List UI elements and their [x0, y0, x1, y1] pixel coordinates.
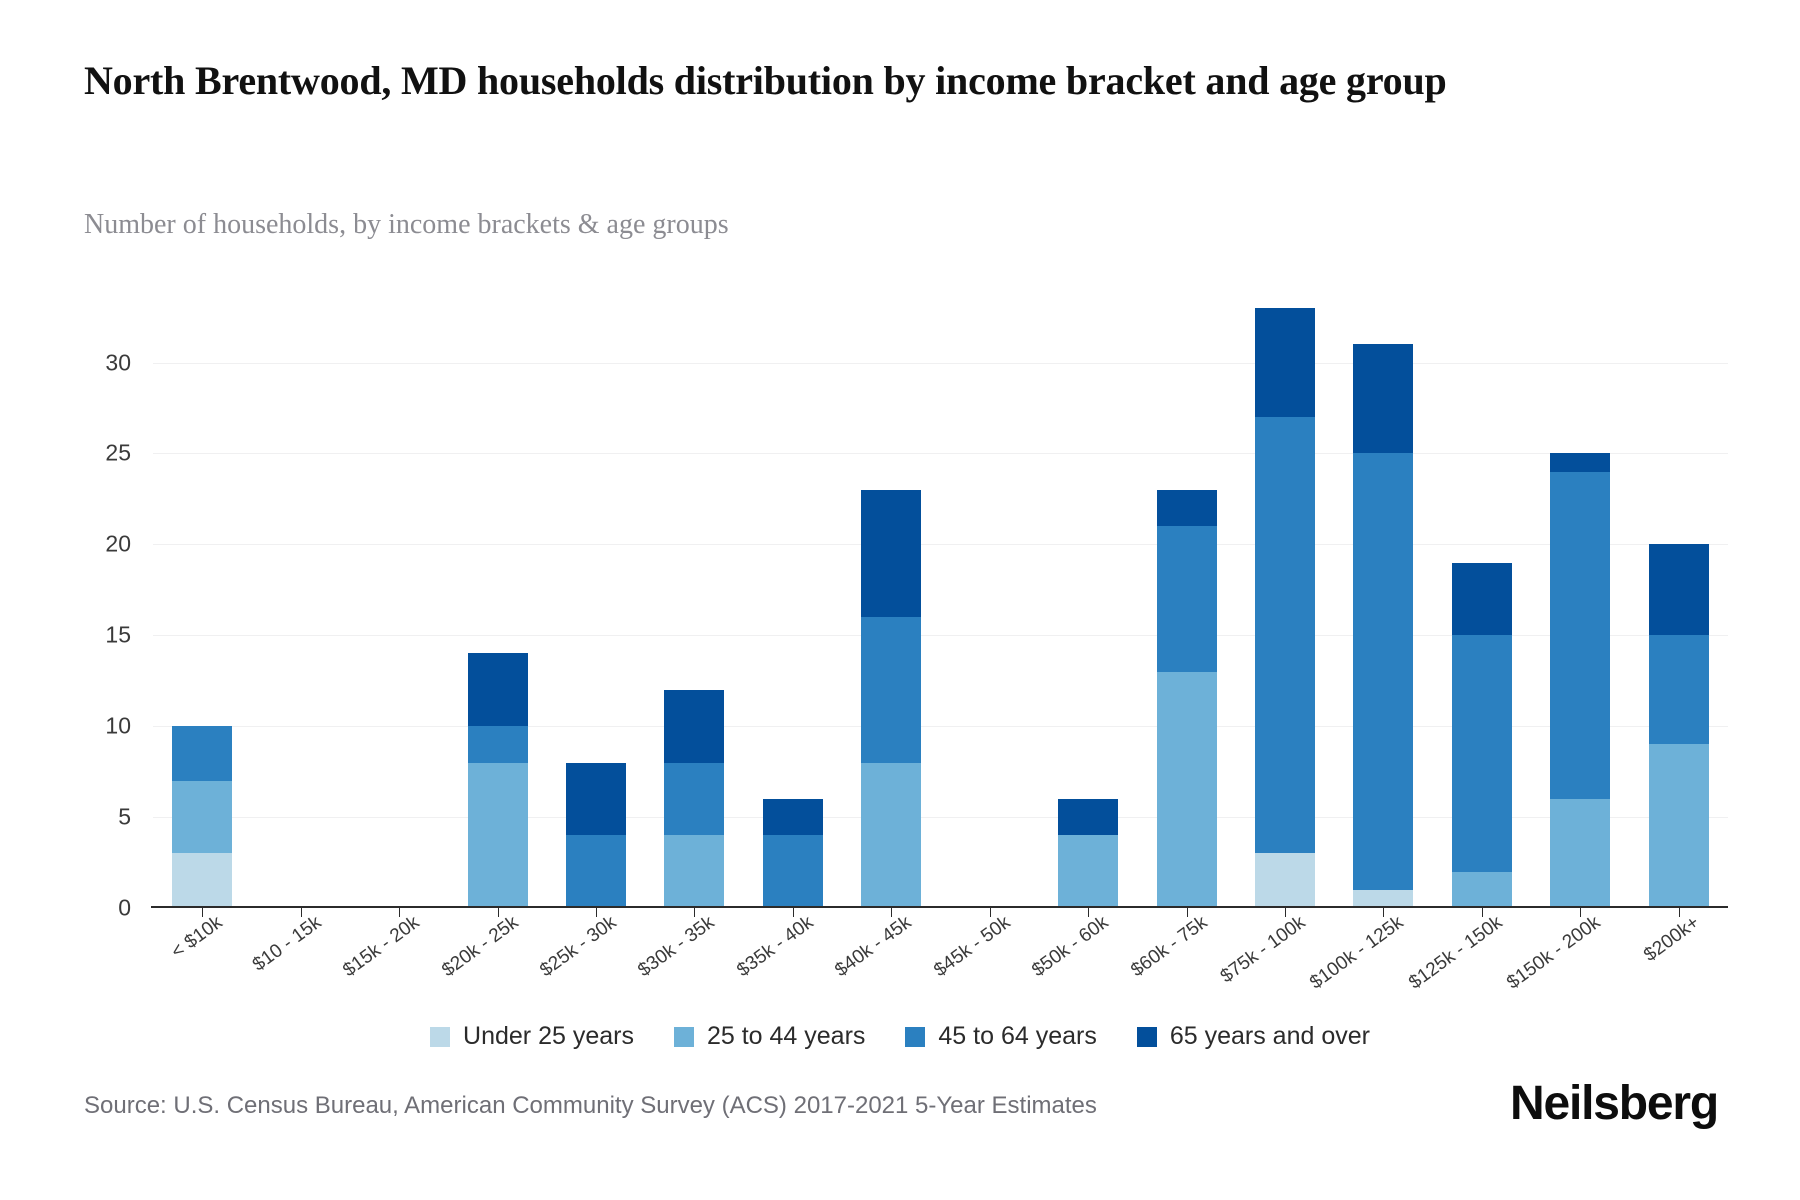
bar-segment[interactable] — [1452, 635, 1512, 871]
bar-segment[interactable] — [468, 653, 528, 726]
bar-segment[interactable] — [1452, 872, 1512, 908]
bar-segment[interactable] — [1353, 344, 1413, 453]
y-axis-tick-label: 0 — [118, 895, 131, 922]
bar-segment[interactable] — [861, 763, 921, 908]
bar-segment[interactable] — [1353, 453, 1413, 889]
bar-stack[interactable] — [1452, 563, 1512, 908]
bar-segment[interactable] — [664, 690, 724, 763]
bar-segment[interactable] — [664, 835, 724, 908]
bar-stack[interactable] — [172, 726, 232, 908]
bar-segment[interactable] — [1649, 635, 1709, 744]
bar-segment[interactable] — [172, 726, 232, 781]
legend-item[interactable]: 45 to 64 years — [905, 1022, 1096, 1051]
bar-segment[interactable] — [1255, 853, 1315, 908]
legend-swatch-icon — [674, 1027, 694, 1047]
chart-page: North Brentwood, MD households distribut… — [0, 0, 1800, 1200]
bar-stack[interactable] — [1058, 799, 1118, 908]
legend-item[interactable]: 25 to 44 years — [674, 1022, 865, 1051]
bar-segment[interactable] — [664, 763, 724, 836]
bar-segment[interactable] — [1550, 453, 1610, 471]
bar-segment[interactable] — [1058, 799, 1118, 835]
bar-segment[interactable] — [1255, 417, 1315, 853]
bar-segment[interactable] — [1550, 472, 1610, 799]
x-axis-line — [151, 906, 1728, 908]
legend-label: Under 25 years — [463, 1022, 634, 1051]
y-axis-tick-label: 30 — [105, 349, 131, 376]
bar-stack[interactable] — [763, 799, 823, 908]
plot-area: 051015202530 — [153, 268, 1728, 908]
legend-swatch-icon — [1137, 1027, 1157, 1047]
brand-logo: Neilsberg — [1510, 1076, 1718, 1131]
bar-stack[interactable] — [861, 490, 921, 908]
page-subtitle: Number of households, by income brackets… — [84, 208, 1384, 242]
page-title: North Brentwood, MD households distribut… — [84, 55, 1504, 107]
legend-swatch-icon — [430, 1027, 450, 1047]
bar-segment[interactable] — [566, 763, 626, 836]
bar-segment[interactable] — [1649, 544, 1709, 635]
chart-legend: Under 25 years25 to 44 years45 to 64 yea… — [0, 1022, 1800, 1051]
bar-stack[interactable] — [1649, 544, 1709, 908]
bars-layer — [153, 268, 1728, 908]
bar-stack[interactable] — [1255, 308, 1315, 908]
y-axis-tick-label: 10 — [105, 713, 131, 740]
bar-stack[interactable] — [1353, 344, 1413, 908]
legend-item[interactable]: 65 years and over — [1137, 1022, 1370, 1051]
gridline — [153, 908, 1728, 909]
legend-label: 65 years and over — [1170, 1022, 1370, 1051]
bar-stack[interactable] — [468, 653, 528, 908]
y-axis-tick-label: 25 — [105, 440, 131, 467]
legend-label: 45 to 64 years — [938, 1022, 1096, 1051]
bar-segment[interactable] — [172, 853, 232, 908]
y-axis-tick-label: 20 — [105, 531, 131, 558]
bar-segment[interactable] — [763, 799, 823, 835]
bar-stack[interactable] — [566, 763, 626, 908]
bar-segment[interactable] — [1058, 835, 1118, 908]
bar-stack[interactable] — [1157, 490, 1217, 908]
bar-segment[interactable] — [172, 781, 232, 854]
bar-stack[interactable] — [664, 690, 724, 908]
bar-segment[interactable] — [763, 835, 823, 908]
bar-segment[interactable] — [861, 617, 921, 762]
y-axis-tick-label: 5 — [118, 804, 131, 831]
bar-segment[interactable] — [1452, 563, 1512, 636]
bar-segment[interactable] — [1649, 744, 1709, 908]
bar-segment[interactable] — [861, 490, 921, 617]
bar-segment[interactable] — [1157, 672, 1217, 908]
bar-segment[interactable] — [1157, 526, 1217, 671]
source-note: Source: U.S. Census Bureau, American Com… — [84, 1092, 1097, 1120]
legend-label: 25 to 44 years — [707, 1022, 865, 1051]
x-axis-labels: < $10k$10 - 15k$15k - 20k$20k - 25k$25k … — [153, 912, 1728, 1022]
bar-segment[interactable] — [566, 835, 626, 908]
bar-segment[interactable] — [1157, 490, 1217, 526]
bar-segment[interactable] — [1550, 799, 1610, 908]
bar-segment[interactable] — [468, 726, 528, 762]
bar-segment[interactable] — [1255, 308, 1315, 417]
legend-item[interactable]: Under 25 years — [430, 1022, 634, 1051]
y-axis-tick-label: 15 — [105, 622, 131, 649]
bar-stack[interactable] — [1550, 453, 1610, 908]
legend-swatch-icon — [905, 1027, 925, 1047]
bar-segment[interactable] — [468, 763, 528, 908]
